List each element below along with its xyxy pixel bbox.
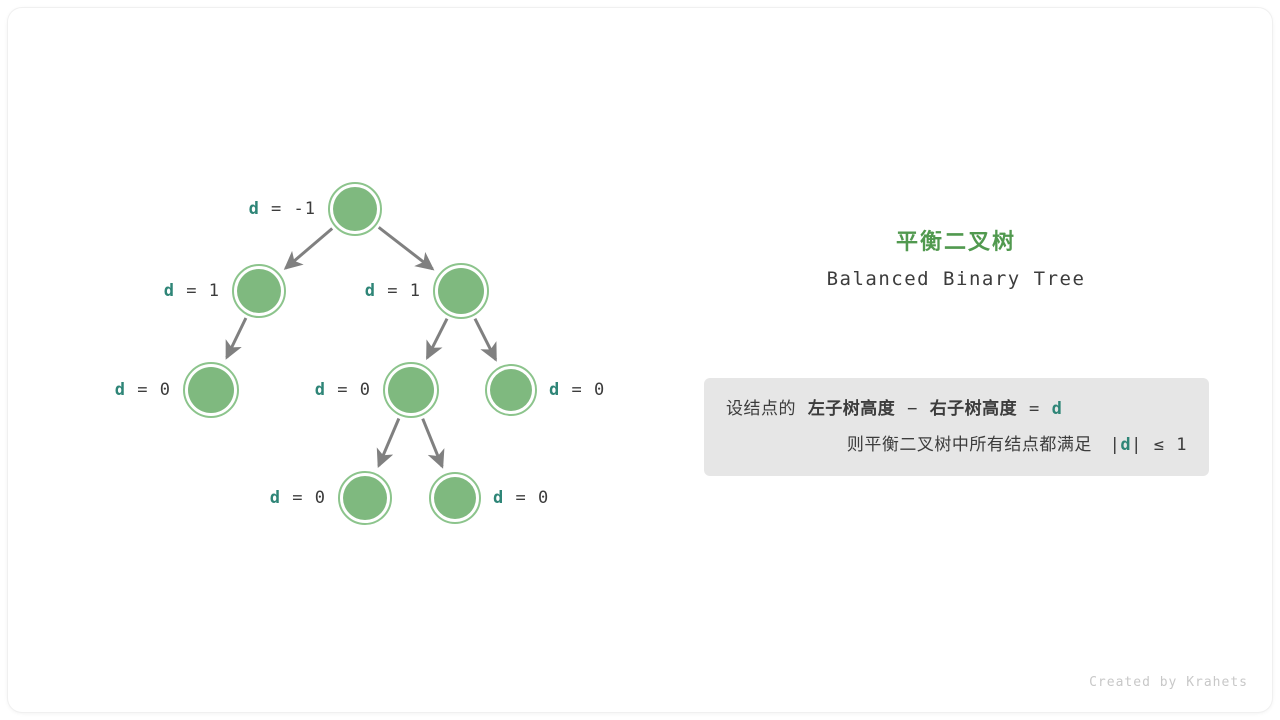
definition-line-2: 则平衡二叉树中所有结点都满足 |d| ≤ 1	[726, 427, 1187, 463]
node-label-value: = 0	[326, 380, 371, 400]
tree-edges	[227, 227, 496, 466]
page-title: 平衡二叉树	[696, 228, 1216, 258]
tree-node[interactable]	[184, 363, 238, 417]
node-label-value: = -1	[260, 199, 316, 219]
node-balance-label: d = 0	[493, 488, 549, 508]
node-label-symbol: d	[493, 488, 504, 508]
tree-edge	[286, 228, 333, 268]
tree-edge	[379, 227, 433, 269]
tree-edge	[423, 419, 442, 467]
definition-line-1: 设结点的 左子树高度 − 右子树高度 = d	[726, 391, 1187, 427]
tree-edge	[475, 319, 496, 360]
definition-prefix: 设结点的	[726, 399, 796, 419]
node-balance-label: d = 1	[164, 281, 220, 301]
node-label-symbol: d	[249, 199, 260, 219]
tree-node[interactable]	[329, 183, 381, 235]
abs-bar-close: |	[1131, 435, 1142, 455]
credit-text: Created by Krahets	[1089, 675, 1248, 690]
relation-operator: ≤	[1154, 435, 1165, 455]
equals-operator: =	[1029, 399, 1040, 419]
abs-bar-open: |	[1110, 435, 1121, 455]
tree-node-fill	[438, 268, 484, 314]
tree-node[interactable]	[339, 472, 391, 524]
node-label-value: = 1	[376, 281, 421, 301]
bound-value: 1	[1176, 435, 1187, 455]
node-label-value: = 0	[560, 380, 605, 400]
tree-node-fill	[343, 476, 387, 520]
node-label-value: = 0	[504, 488, 549, 508]
definition-box: 设结点的 左子树高度 − 右子树高度 = d 则平衡二叉树中所有结点都满足 |d…	[704, 378, 1209, 476]
page-subtitle: Balanced Binary Tree	[696, 266, 1216, 292]
tree-node-fill	[388, 367, 434, 413]
tree-node[interactable]	[233, 265, 285, 317]
tree-node[interactable]	[434, 264, 488, 318]
node-balance-label: d = 0	[115, 380, 171, 400]
node-label-value: = 0	[126, 380, 171, 400]
node-label-value: = 0	[281, 488, 326, 508]
tree-edge	[227, 318, 246, 358]
tree-edge	[379, 419, 399, 466]
tree-edge	[427, 319, 447, 358]
tree-node-fill	[490, 369, 532, 411]
node-label-symbol: d	[270, 488, 281, 508]
node-label-symbol: d	[164, 281, 175, 301]
tree-node-fill	[237, 269, 281, 313]
minus-operator: −	[907, 399, 918, 419]
binary-tree-diagram	[8, 8, 1272, 712]
node-label-symbol: d	[365, 281, 376, 301]
tree-node[interactable]	[486, 365, 536, 415]
node-label-symbol: d	[549, 380, 560, 400]
node-label-symbol: d	[115, 380, 126, 400]
tree-node[interactable]	[384, 363, 438, 417]
node-balance-label: d = -1	[249, 199, 316, 219]
node-balance-label: d = 1	[365, 281, 421, 301]
tree-node[interactable]	[430, 473, 480, 523]
symbol-d: d	[1052, 399, 1063, 419]
node-balance-label: d = 0	[270, 488, 326, 508]
balance-condition-prefix: 则平衡二叉树中所有结点都满足	[847, 435, 1092, 455]
info-panel: 平衡二叉树 Balanced Binary Tree	[696, 228, 1216, 292]
diagram-card: d = -1d = 1d = 1d = 0d = 0d = 0d = 0d = …	[8, 8, 1272, 712]
term-left-subtree-height: 左子树高度	[808, 399, 896, 419]
symbol-d-abs: d	[1120, 435, 1131, 455]
tree-nodes	[184, 183, 536, 524]
tree-node-fill	[333, 187, 377, 231]
node-label-value: = 1	[175, 281, 220, 301]
tree-node-fill	[188, 367, 234, 413]
node-balance-label: d = 0	[315, 380, 371, 400]
node-label-symbol: d	[315, 380, 326, 400]
node-balance-label: d = 0	[549, 380, 605, 400]
term-right-subtree-height: 右子树高度	[930, 399, 1018, 419]
tree-node-fill	[434, 477, 476, 519]
